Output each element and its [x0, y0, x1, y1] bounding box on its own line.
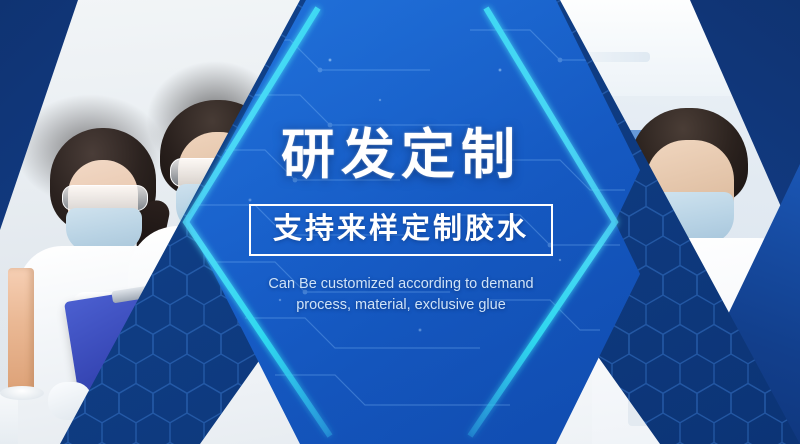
english-line-2: process, material, exclusive glue	[268, 295, 533, 316]
promo-banner: 研发定制 支持来样定制胶水 Can Be customized accordin…	[0, 0, 800, 444]
page-title: 研发定制	[281, 128, 521, 182]
english-tagline: Can Be customized according to demand pr…	[268, 274, 533, 316]
subtitle-text: 支持来样定制胶水	[273, 213, 529, 245]
english-line-1: Can Be customized according to demand	[268, 274, 533, 295]
graduated-cylinder	[8, 268, 34, 390]
banner-text-block: 研发定制 支持来样定制胶水 Can Be customized accordin…	[186, 0, 616, 444]
subtitle-box: 支持来样定制胶水	[249, 204, 553, 256]
graduated-cylinder-base	[0, 386, 44, 400]
